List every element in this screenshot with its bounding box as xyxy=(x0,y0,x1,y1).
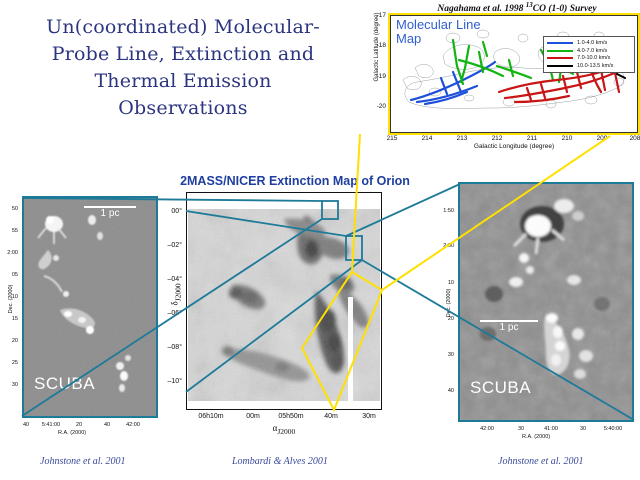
title-line-1: Un(coordinated) Molecular- xyxy=(8,14,358,41)
molmap-label-line-2: Map xyxy=(396,32,481,46)
scuba-right-ytick-0: 1:50 xyxy=(434,208,454,214)
scuba-right-xtick-1: 30 xyxy=(508,426,534,432)
molmap-xtick-5: 210 xyxy=(558,135,576,142)
scuba-left-xtick-0: 40 xyxy=(13,422,39,428)
page-title: Un(coordinated) Molecular- Probe Line, E… xyxy=(8,14,358,122)
scuba-right-y-axis-label: Dec. (2000) xyxy=(446,278,452,328)
legend-label-3: 10.0-13.5 km/s xyxy=(577,63,613,69)
extmap-ytick-4: –08° xyxy=(156,344,182,351)
molmap-x-axis-label: Galactic Longitude (degree) xyxy=(390,143,638,150)
scuba-left-x-axis-label: R.A. (2000) xyxy=(58,430,86,436)
extmap-x-axis-label: αJ2000 xyxy=(186,423,382,436)
molmap-xtick-4: 211 xyxy=(523,135,541,142)
scuba-left-scalebar: 1 pc xyxy=(84,206,136,219)
scuba-left-ytick-1: 55 xyxy=(0,228,18,234)
title-line-2: Probe Line, Extinction and xyxy=(8,41,358,68)
scuba-left-y-axis-label: Dec. (2000) xyxy=(8,274,14,324)
scuba-left-ytick-8: 30 xyxy=(0,382,18,388)
scuba-right-xtick-3: 30 xyxy=(570,426,596,432)
scuba-left-xtick-1: 5:41:00 xyxy=(38,422,64,428)
scuba-right-xtick-0: 42:00 xyxy=(474,426,500,432)
scuba-left-ytick-0: 50 xyxy=(0,206,18,212)
extmap-xtick-2: 05h50m xyxy=(274,413,308,420)
extmap-ytick-1: –02° xyxy=(156,242,182,249)
scuba-left-xtick-3: 40 xyxy=(94,422,120,428)
molmap-xtick-3: 212 xyxy=(488,135,506,142)
scuba-left-caption: Johnstone et al. 2001 xyxy=(40,456,126,467)
molmap-xtick-1: 214 xyxy=(418,135,436,142)
scuba-right-x-axis-label: R.A. (2000) xyxy=(522,434,550,440)
extinction-map-caption: Lombardi & Alves 2001 xyxy=(232,456,328,467)
extinction-map-image-frame xyxy=(186,192,382,410)
legend-swatch-0 xyxy=(547,42,573,44)
extinction-map-panel: 00° –02° –04° –06° –08° –10° δJ2000 xyxy=(186,192,382,430)
scuba-right-xtick-2: 41:00 xyxy=(538,426,564,432)
extinction-map-image xyxy=(188,201,380,401)
legend-label-0: 1.0-4.0 km/s xyxy=(577,40,607,46)
scuba-left-xtick-4: 42:00 xyxy=(120,422,146,428)
legend-label-1: 4.0-7.0 km/s xyxy=(577,48,607,54)
molmap-xtick-7: 208 xyxy=(626,135,640,142)
legend-swatch-3 xyxy=(547,65,573,67)
molmap-legend: 1.0-4.0 km/s 4.0-7.0 km/s 7.0-10.0 km/s … xyxy=(543,36,635,73)
scuba-right-ytick-4: 30 xyxy=(434,352,454,358)
molmap-label-line-1: Molecular Line xyxy=(396,18,481,32)
molmap-xtick-6: 209 xyxy=(593,135,611,142)
scuba-right-instrument-label: SCUBA xyxy=(470,378,531,398)
extmap-xtick-4: 30m xyxy=(352,413,386,420)
extinction-map-title: 2MASS/NICER Extinction Map of Orion xyxy=(150,174,440,188)
extmap-y-axis-label: δJ2000 xyxy=(170,264,183,324)
molecular-line-map-panel: Nagahama et al. 1998 13CO (1-0) Survey -… xyxy=(358,0,640,172)
scuba-left-ytick-6: 20 xyxy=(0,338,18,344)
extmap-xtick-1: 00m xyxy=(236,413,270,420)
scuba-right-xtick-4: 5:40:00 xyxy=(600,426,626,432)
scalebar-label: 1 pc xyxy=(480,322,538,333)
molmap-xtick-2: 213 xyxy=(453,135,471,142)
molecular-map-title-main: Nagahama et al. 1998 xyxy=(437,4,525,14)
molmap-ytick-3: -20 xyxy=(364,103,386,110)
molecular-map-title-rest: CO (1-0) Survey xyxy=(533,4,597,14)
legend-entry-0: 1.0-4.0 km/s xyxy=(547,40,631,47)
title-line-3: Thermal Emission xyxy=(8,68,358,95)
scuba-right-ytick-5: 40 xyxy=(434,388,454,394)
extmap-xtick-0: 06h10m xyxy=(194,413,228,420)
scuba-left-panel: 1 pc SCUBA xyxy=(22,196,158,418)
legend-swatch-1 xyxy=(547,50,573,52)
legend-label-2: 7.0-10.0 km/s xyxy=(577,55,610,61)
extmap-ytick-0: 00° xyxy=(156,208,182,215)
scuba-left-ytick-7: 25 xyxy=(0,360,18,366)
scuba-right-caption: Johnstone et al. 2001 xyxy=(498,456,584,467)
legend-swatch-2 xyxy=(547,57,573,59)
scalebar-label: 1 pc xyxy=(84,208,136,219)
molecular-line-map-label: Molecular Line Map xyxy=(396,18,481,46)
title-line-4: Observations xyxy=(8,95,358,122)
molmap-xtick-0: 215 xyxy=(383,135,401,142)
legend-entry-3: 10.0-13.5 km/s xyxy=(547,63,631,70)
molmap-y-axis-label: Galactic Latitude (degree) xyxy=(374,12,380,82)
scuba-right-panel: 1 pc SCUBA xyxy=(458,182,634,422)
extmap-ytick-5: –10° xyxy=(156,378,182,385)
molecular-map-title: Nagahama et al. 1998 13CO (1-0) Survey xyxy=(400,1,634,14)
scuba-right-ytick-1: 2:00 xyxy=(434,243,454,249)
extmap-xtick-3: 40m xyxy=(314,413,348,420)
scuba-left-xtick-2: 20 xyxy=(66,422,92,428)
molecular-map-title-superscript: 13 xyxy=(526,1,533,9)
legend-entry-1: 4.0-7.0 km/s xyxy=(547,48,631,55)
scuba-left-ytick-2: 2:00 xyxy=(0,250,18,256)
legend-entry-2: 7.0-10.0 km/s xyxy=(547,55,631,62)
scuba-right-scalebar: 1 pc xyxy=(480,320,538,333)
scuba-left-instrument-label: SCUBA xyxy=(34,374,95,394)
